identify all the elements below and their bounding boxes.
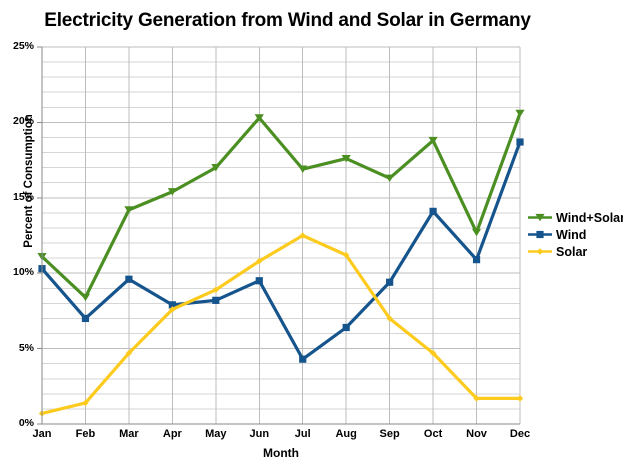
x-tick-label: Aug bbox=[324, 428, 368, 440]
data-point bbox=[472, 229, 481, 236]
x-tick-label: Jul bbox=[281, 428, 325, 440]
data-point bbox=[125, 276, 132, 283]
y-tick-label: 25% bbox=[0, 40, 34, 52]
legend-marker-icon bbox=[527, 245, 553, 258]
data-point bbox=[299, 356, 306, 363]
legend-label: Solar bbox=[556, 245, 587, 259]
x-tick-label: Oct bbox=[411, 428, 455, 440]
data-point bbox=[473, 256, 480, 263]
series-wind bbox=[38, 138, 523, 362]
y-tick-label: 10% bbox=[0, 266, 34, 278]
x-tick-label: Jun bbox=[237, 428, 281, 440]
y-tick-label: 5% bbox=[0, 342, 34, 354]
x-tick-label: Apr bbox=[150, 428, 194, 440]
legend-item-wind[interactable]: Wind bbox=[527, 226, 623, 243]
x-tick-label: Dec bbox=[498, 428, 542, 440]
data-point bbox=[515, 110, 524, 117]
y-axis-title: Percent of Consumption bbox=[23, 96, 35, 266]
chart-container: Electricity Generation from Wind and Sol… bbox=[0, 0, 623, 467]
data-point bbox=[429, 208, 436, 215]
data-point bbox=[81, 294, 90, 301]
x-axis-title: Month bbox=[42, 446, 520, 460]
x-tick-label: Feb bbox=[63, 428, 107, 440]
series-wind-solar bbox=[37, 110, 524, 301]
legend-marker-icon bbox=[527, 228, 553, 241]
x-tick-label: Nov bbox=[455, 428, 499, 440]
data-series-layer bbox=[37, 110, 524, 417]
legend-item-wind-solar[interactable]: Wind+Solar bbox=[527, 209, 623, 226]
data-point bbox=[516, 138, 523, 145]
x-tick-label: Mar bbox=[107, 428, 151, 440]
legend-label: Wind bbox=[556, 228, 586, 242]
data-point bbox=[256, 277, 263, 284]
legend-label: Wind+Solar bbox=[556, 211, 623, 225]
data-point bbox=[517, 395, 523, 401]
legend-item-solar[interactable]: Solar bbox=[527, 243, 623, 260]
x-tick-label: Sep bbox=[368, 428, 412, 440]
data-point bbox=[343, 324, 350, 331]
series-solar bbox=[39, 232, 523, 416]
chart-legend: Wind+SolarWindSolar bbox=[527, 209, 623, 260]
data-point bbox=[386, 279, 393, 286]
data-point bbox=[82, 315, 89, 322]
x-tick-label: Jan bbox=[20, 428, 64, 440]
legend-marker-icon bbox=[527, 211, 553, 224]
data-point bbox=[212, 297, 219, 304]
x-tick-label: May bbox=[194, 428, 238, 440]
